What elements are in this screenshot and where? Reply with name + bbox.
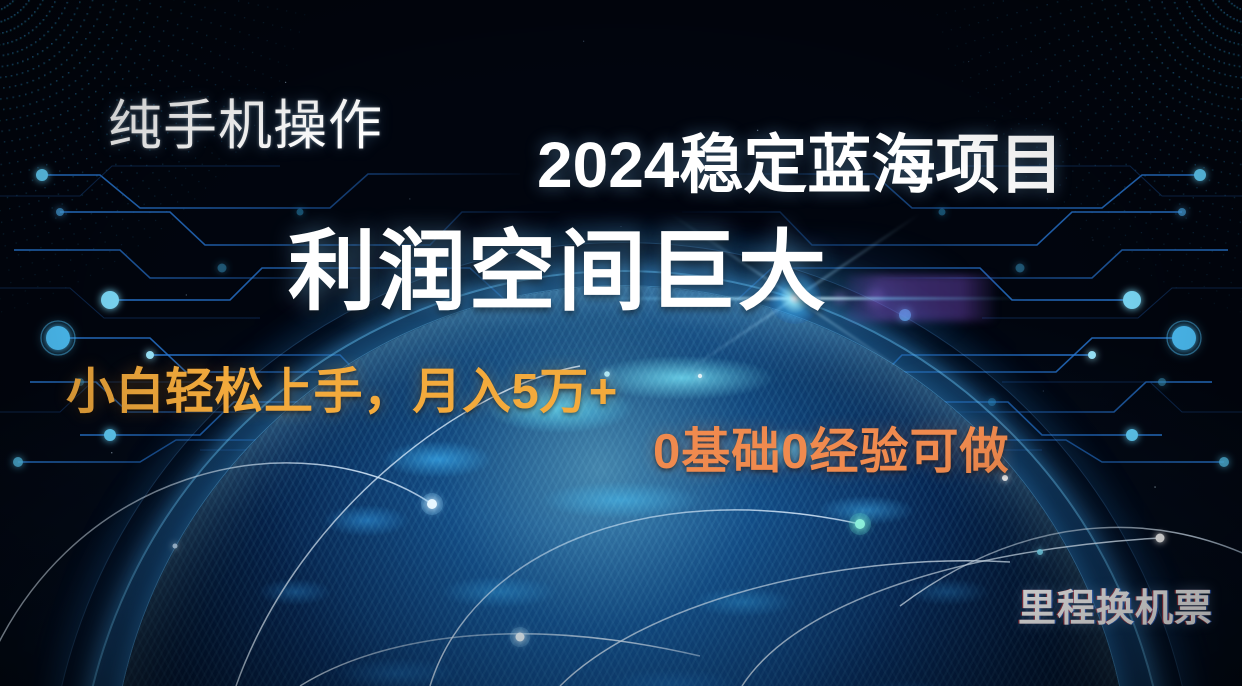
flare-purple-ghost	[847, 275, 995, 321]
brand-label: 里程换机票	[1018, 590, 1213, 628]
pure-mobile-headline: 纯手机操作	[108, 99, 383, 153]
flare-ghost-small	[829, 287, 851, 309]
flare-ghost-medium	[861, 284, 889, 312]
globe-continents	[111, 286, 1131, 686]
profit-headline: 利润空间巨大	[288, 228, 828, 316]
benefit-line-two: 0基础0经验可做	[653, 428, 1010, 477]
benefit-line-one: 小白轻松上手，月入5万+	[66, 368, 618, 417]
promo-banner: 纯手机操作 2024稳定蓝海项目 利润空间巨大 小白轻松上手，月入5万+ 0基础…	[0, 0, 1242, 686]
globe-shading	[111, 286, 1131, 686]
main-title: 2024稳定蓝海项目	[537, 133, 1063, 197]
globe-texture	[111, 286, 1131, 686]
globe-sphere	[111, 286, 1131, 686]
dotted-wave-mesh-left-icon	[0, 0, 410, 390]
